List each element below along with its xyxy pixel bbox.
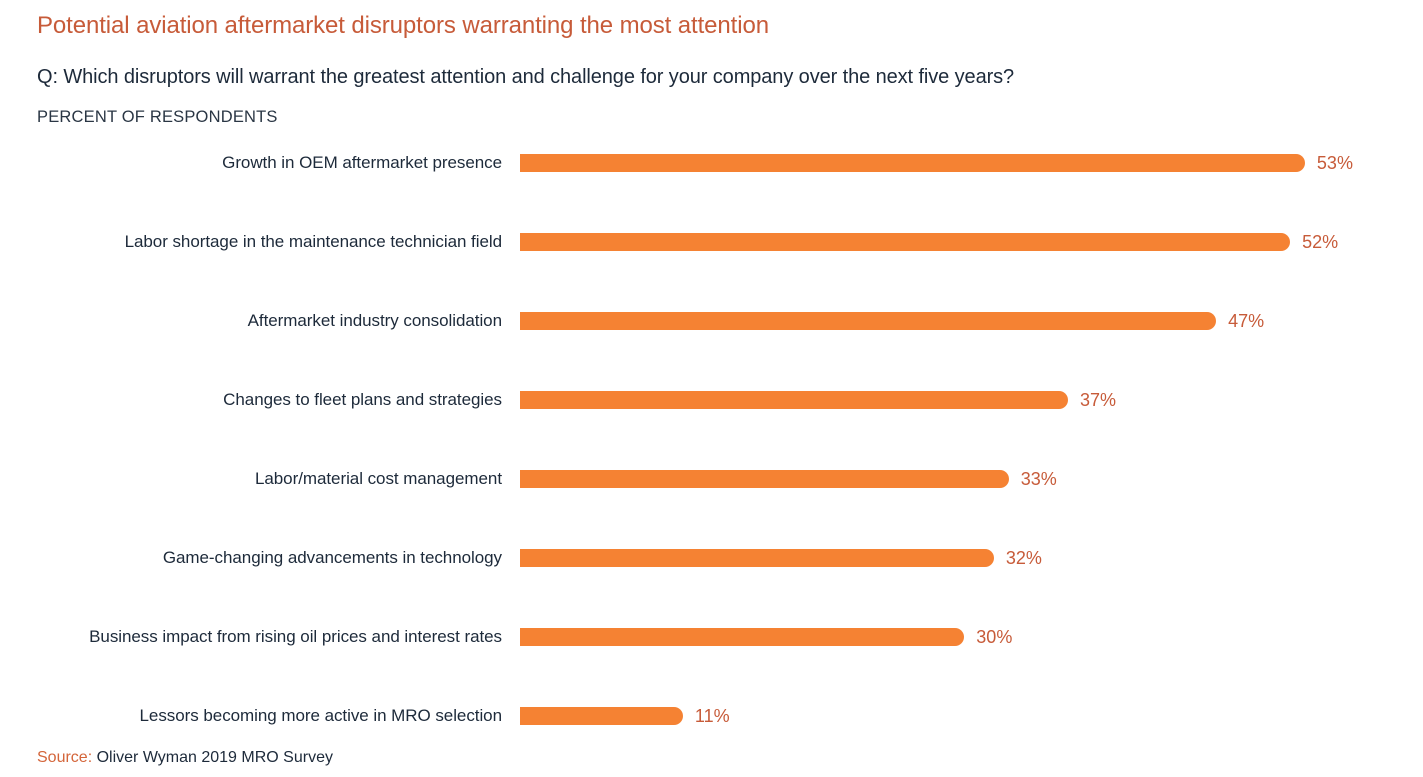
bar-value-label: 33% <box>1021 461 1057 497</box>
bar-category-label: Business impact from rising oil prices a… <box>0 619 502 655</box>
bar-value-label: 11% <box>695 698 730 734</box>
bar-fill <box>520 549 994 567</box>
bar-row: Aftermarket industry consolidation47% <box>0 303 1423 339</box>
bar-category-label: Growth in OEM aftermarket presence <box>0 145 502 181</box>
bar-category-label: Game-changing advancements in technology <box>0 540 502 576</box>
bar-fill <box>520 470 1009 488</box>
bar-fill <box>520 233 1290 251</box>
page-title: Potential aviation aftermarket disruptor… <box>37 12 769 40</box>
bar-value-label: 47% <box>1228 303 1264 339</box>
chart-page: Potential aviation aftermarket disruptor… <box>0 0 1423 777</box>
bar-value-label: 37% <box>1080 382 1116 418</box>
bar-row: Labor shortage in the maintenance techni… <box>0 224 1423 260</box>
bar-chart-plot-area: Growth in OEM aftermarket presence53%Lab… <box>0 134 1423 734</box>
bar-value-label: 30% <box>976 619 1012 655</box>
bar-category-label: Labor/material cost management <box>0 461 502 497</box>
bar-category-label: Changes to fleet plans and strategies <box>0 382 502 418</box>
bar-fill <box>520 707 683 725</box>
bar-value-label: 52% <box>1302 224 1338 260</box>
source-line: Source: Oliver Wyman 2019 MRO Survey <box>37 749 333 767</box>
bar-fill <box>520 312 1216 330</box>
source-text: Oliver Wyman 2019 MRO Survey <box>97 749 333 766</box>
source-label: Source: <box>37 749 92 766</box>
bar-row: Business impact from rising oil prices a… <box>0 619 1423 655</box>
chart-question: Q: Which disruptors will warrant the gre… <box>37 66 1014 89</box>
chart-units-label: PERCENT OF RESPONDENTS <box>37 108 278 127</box>
bar-row: Game-changing advancements in technology… <box>0 540 1423 576</box>
bar-value-label: 53% <box>1317 145 1353 181</box>
bar-category-label: Lessors becoming more active in MRO sele… <box>0 698 502 734</box>
bar-row: Lessors becoming more active in MRO sele… <box>0 698 1423 734</box>
bar-row: Changes to fleet plans and strategies37% <box>0 382 1423 418</box>
bar-row: Growth in OEM aftermarket presence53% <box>0 145 1423 181</box>
bar-category-label: Labor shortage in the maintenance techni… <box>0 224 502 260</box>
bar-fill <box>520 391 1068 409</box>
bar-value-label: 32% <box>1006 540 1042 576</box>
bar-row: Labor/material cost management33% <box>0 461 1423 497</box>
bar-category-label: Aftermarket industry consolidation <box>0 303 502 339</box>
bar-fill <box>520 154 1305 172</box>
bar-fill <box>520 628 964 646</box>
